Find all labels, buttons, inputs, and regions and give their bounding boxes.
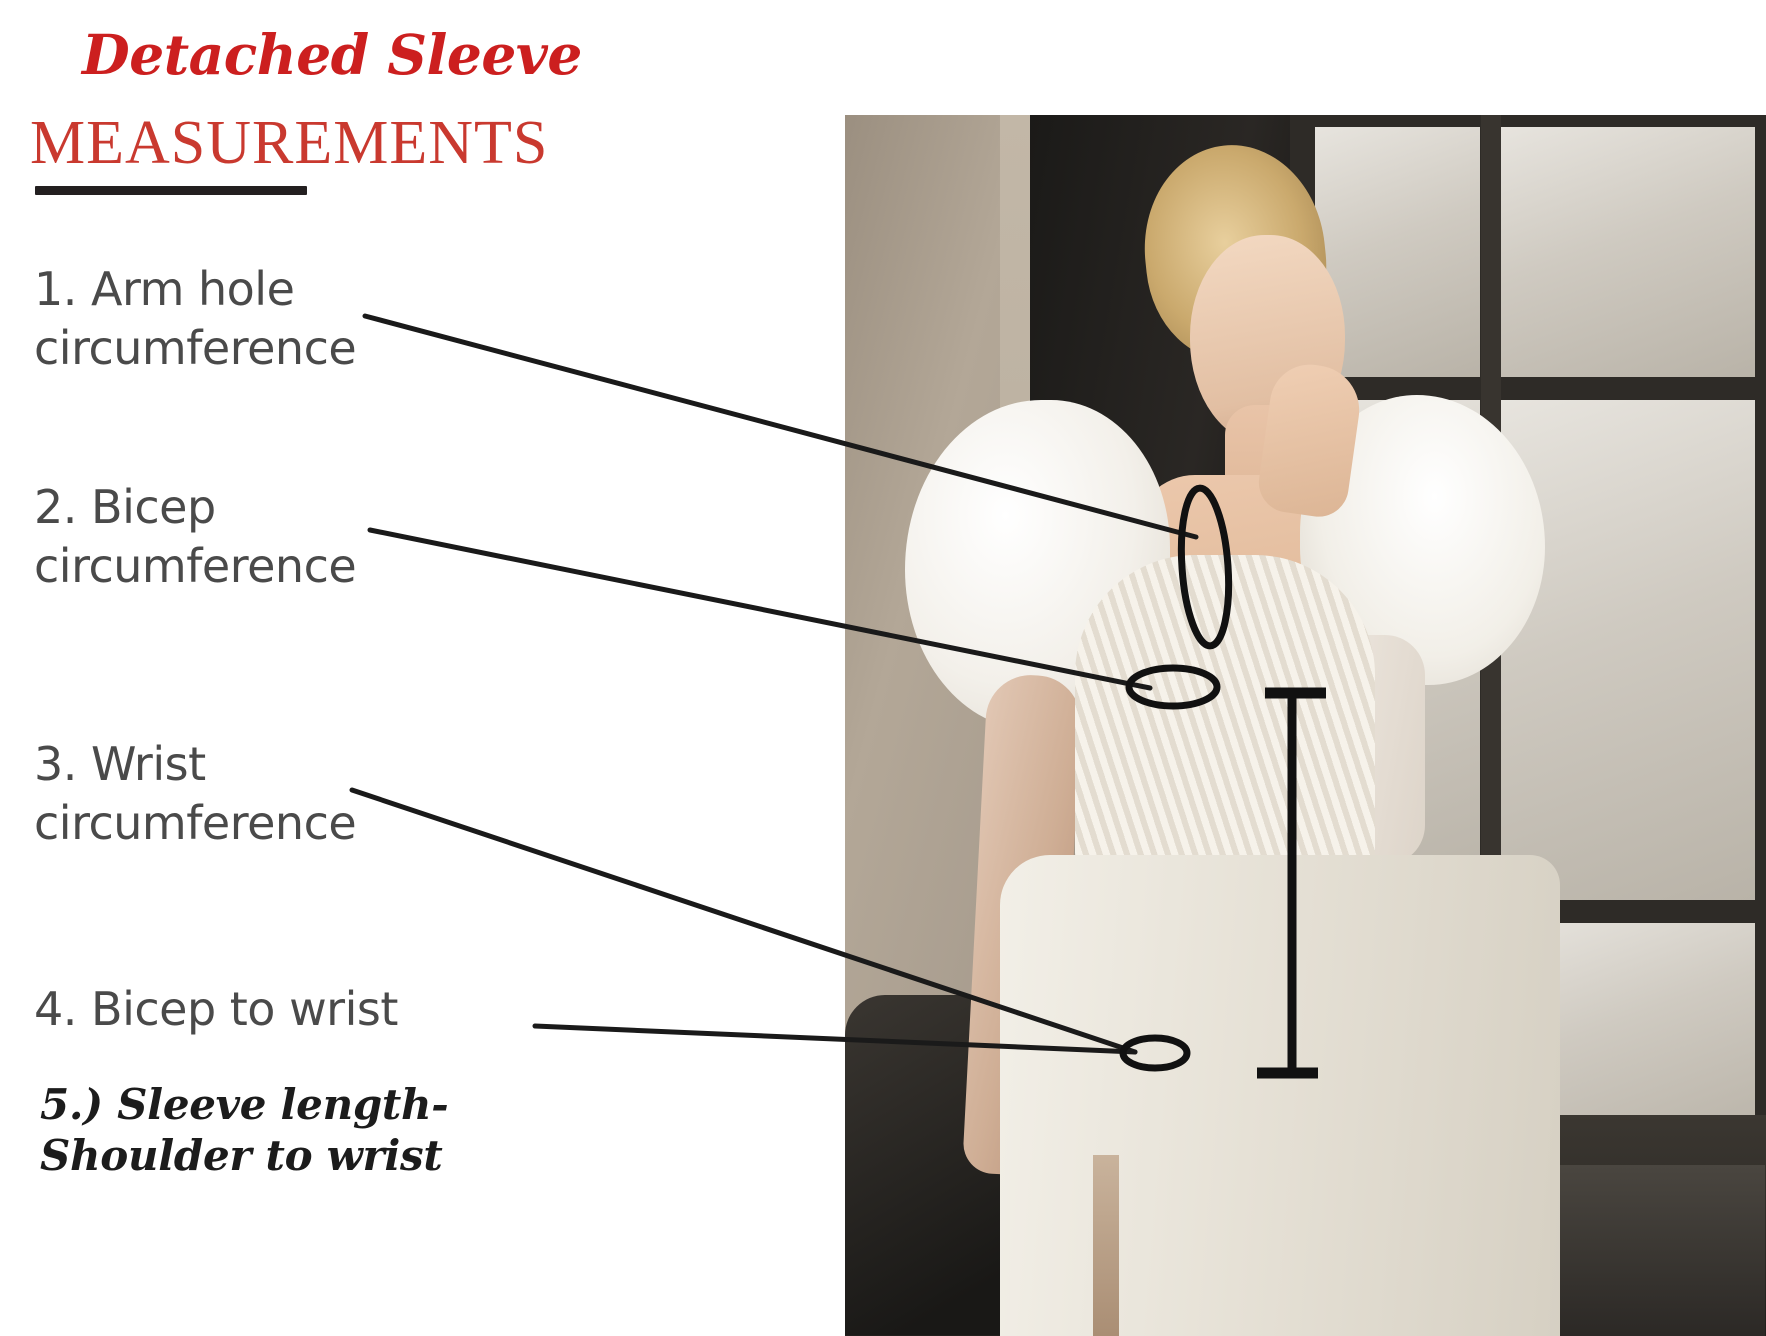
measurement-item-5: 5.) Sleeve length- Shoulder to wrist xyxy=(40,1079,448,1181)
photo-window-pane xyxy=(1500,400,1755,900)
measurement-item-2: 2. Bicep circumference xyxy=(34,478,356,596)
dress-bodice xyxy=(1075,555,1375,895)
measurement-item-1: 1. Arm hole circumference xyxy=(34,260,356,378)
model-photo xyxy=(845,115,1766,1336)
page-title-caps: MEASUREMENTS xyxy=(30,112,548,174)
measurement-item-4: 4. Bicep to wrist xyxy=(34,980,398,1039)
dress-skirt xyxy=(1000,855,1560,1336)
photo-window-pane xyxy=(1500,127,1755,377)
page-title-script: Detached Sleeve xyxy=(82,26,582,84)
dress-skirt-slit xyxy=(1093,1155,1119,1336)
measurement-guide-page: Detached Sleeve MEASUREMENTS 1. Arm hole… xyxy=(0,0,1766,1336)
measurement-item-3: 3. Wrist circumference xyxy=(34,735,356,853)
title-underline-rule xyxy=(35,186,307,195)
